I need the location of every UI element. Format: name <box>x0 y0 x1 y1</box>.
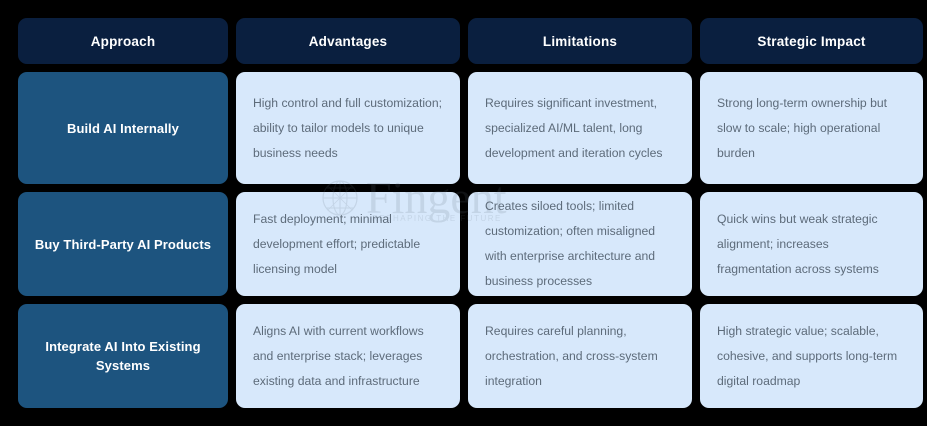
column-header-label: Approach <box>91 34 156 49</box>
column-header-limitations: Limitations <box>468 18 692 64</box>
row-label-text: Build AI Internally <box>67 119 179 138</box>
cell-text: Aligns AI with current workflows and ent… <box>253 319 443 394</box>
table-cell-advantages-row2: Fast deployment; minimal development eff… <box>236 192 460 296</box>
cell-text: Requires significant investment, special… <box>485 91 675 166</box>
column-header-approach: Approach <box>18 18 228 64</box>
column-header-label: Limitations <box>543 34 617 49</box>
row-label-text: Integrate AI Into Existing Systems <box>30 337 216 375</box>
cell-text: High control and full customization; abi… <box>253 91 443 166</box>
cell-text: Creates siloed tools; limited customizat… <box>485 194 675 294</box>
table-cell-strategic-impact-row2: Quick wins but weak strategic alignment;… <box>700 192 923 296</box>
table-cell-strategic-impact-row3: High strategic value; scalable, cohesive… <box>700 304 923 408</box>
cell-text: Strong long-term ownership but slow to s… <box>717 91 906 166</box>
cell-text: Requires careful planning, orchestration… <box>485 319 675 394</box>
table-cell-limitations-row2: Creates siloed tools; limited customizat… <box>468 192 692 296</box>
cell-text: Fast deployment; minimal development eff… <box>253 207 443 282</box>
table-cell-advantages-row3: Aligns AI with current workflows and ent… <box>236 304 460 408</box>
row-label-build-ai-internally: Build AI Internally <box>18 72 228 184</box>
table-cell-limitations-row1: Requires significant investment, special… <box>468 72 692 184</box>
row-label-integrate-ai-into-existing-systems: Integrate AI Into Existing Systems <box>18 304 228 408</box>
row-label-buy-third-party-ai-products: Buy Third-Party AI Products <box>18 192 228 296</box>
table-cell-advantages-row1: High control and full customization; abi… <box>236 72 460 184</box>
column-header-label: Advantages <box>309 34 388 49</box>
cell-text: High strategic value; scalable, cohesive… <box>717 319 906 394</box>
column-header-advantages: Advantages <box>236 18 460 64</box>
comparison-grid: Approach Advantages Limitations Strategi… <box>18 18 909 408</box>
cell-text: Quick wins but weak strategic alignment;… <box>717 207 906 282</box>
column-header-label: Strategic Impact <box>757 34 865 49</box>
table-cell-strategic-impact-row1: Strong long-term ownership but slow to s… <box>700 72 923 184</box>
row-label-text: Buy Third-Party AI Products <box>35 235 211 254</box>
column-header-strategic-impact: Strategic Impact <box>700 18 923 64</box>
comparison-table-container: Fingent RESHAPING THE FUTURE Approach Ad… <box>0 0 927 426</box>
table-cell-limitations-row3: Requires careful planning, orchestration… <box>468 304 692 408</box>
